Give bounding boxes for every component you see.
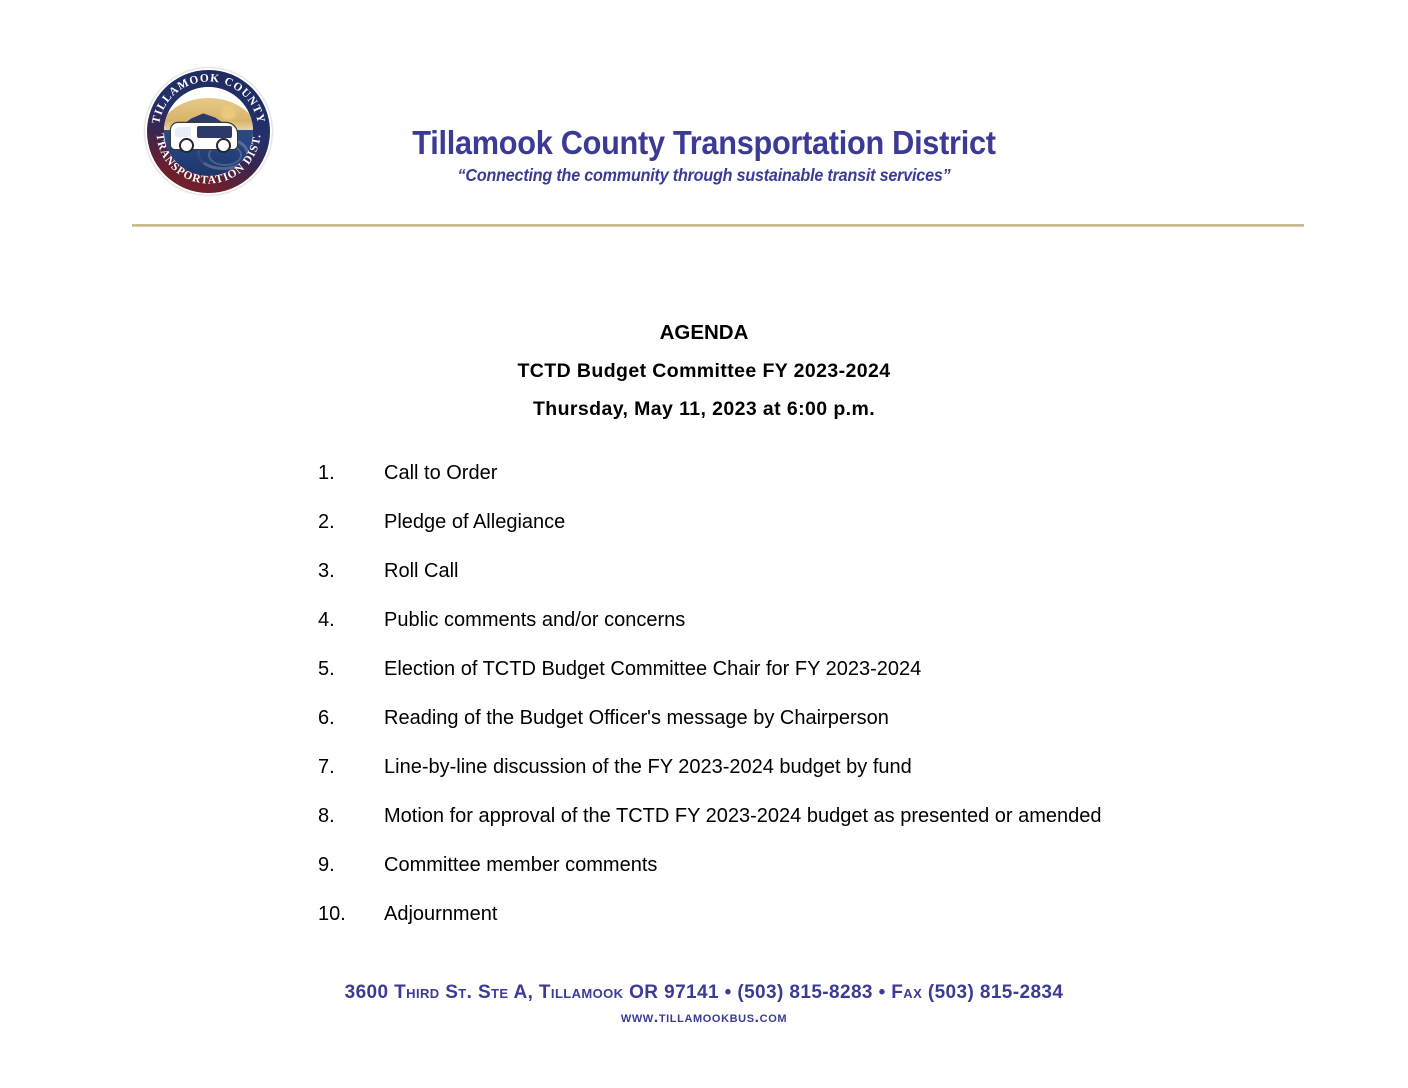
agenda-list: 1. Call to Order 2. Pledge of Allegiance… xyxy=(318,462,1318,952)
agenda-subtitle-committee: TCTD Budget Committee FY 2023-2024 xyxy=(0,352,1408,390)
agenda-item-number: 9. xyxy=(318,854,370,877)
agenda-title: AGENDA xyxy=(0,314,1408,352)
agenda-item-text: Motion for approval of the TCTD FY 2023-… xyxy=(384,805,1101,828)
letterhead: TILLAMOOK COUNTY TRANSPORTATION DIST. Ti… xyxy=(0,0,1408,232)
agenda-item: 1. Call to Order xyxy=(318,462,1318,511)
agenda-item-number: 2. xyxy=(318,511,370,534)
agenda-item-number: 1. xyxy=(318,462,370,485)
agenda-item: 7. Line-by-line discussion of the FY 202… xyxy=(318,756,1318,805)
agenda-item: 10. Adjournment xyxy=(318,903,1318,952)
agenda-item-text: Adjournment xyxy=(384,903,497,926)
agenda-item: 2. Pledge of Allegiance xyxy=(318,511,1318,560)
seal-sun-icon xyxy=(222,106,235,119)
agenda-item-text: Roll Call xyxy=(384,560,458,583)
organization-title: Tillamook County Transportation District xyxy=(49,124,1358,162)
agenda-item: 4. Public comments and/or concerns xyxy=(318,609,1318,658)
agenda-item-text: Election of TCTD Budget Committee Chair … xyxy=(384,658,921,681)
agenda-item-number: 10. xyxy=(318,903,370,926)
agenda-item-number: 3. xyxy=(318,560,370,583)
agenda-item-number: 5. xyxy=(318,658,370,681)
agenda-item-number: 6. xyxy=(318,707,370,730)
agenda-item-text: Call to Order xyxy=(384,462,497,485)
footer-website: www.tillamookbus.com xyxy=(0,1006,1408,1030)
agenda-item-number: 7. xyxy=(318,756,370,779)
footer-address: 3600 Third St. Ste A, Tillamook OR 97141… xyxy=(0,980,1408,1006)
agenda-subtitle-datetime: Thursday, May 11, 2023 at 6:00 p.m. xyxy=(0,390,1408,428)
agenda-item: 9. Committee member comments xyxy=(318,854,1318,903)
agenda-item-text: Committee member comments xyxy=(384,854,657,877)
agenda-item-number: 4. xyxy=(318,609,370,632)
agenda-item-number: 8. xyxy=(318,805,370,828)
agenda-item-text: Line-by-line discussion of the FY 2023-2… xyxy=(384,756,912,779)
agenda-item-text: Public comments and/or concerns xyxy=(384,609,685,632)
agenda-item-text: Pledge of Allegiance xyxy=(384,511,565,534)
agenda-item: 3. Roll Call xyxy=(318,560,1318,609)
agenda-item-text: Reading of the Budget Officer's message … xyxy=(384,707,889,730)
footer: 3600 Third St. Ste A, Tillamook OR 97141… xyxy=(0,980,1408,1030)
agenda-item: 6. Reading of the Budget Officer's messa… xyxy=(318,707,1318,756)
agenda-heading-block: AGENDA TCTD Budget Committee FY 2023-202… xyxy=(0,314,1408,428)
agenda-item: 5. Election of TCTD Budget Committee Cha… xyxy=(318,658,1318,707)
organization-tagline: “Connecting the community through sustai… xyxy=(56,165,1351,186)
agenda-item: 8. Motion for approval of the TCTD FY 20… xyxy=(318,805,1318,854)
header-divider xyxy=(132,224,1304,227)
